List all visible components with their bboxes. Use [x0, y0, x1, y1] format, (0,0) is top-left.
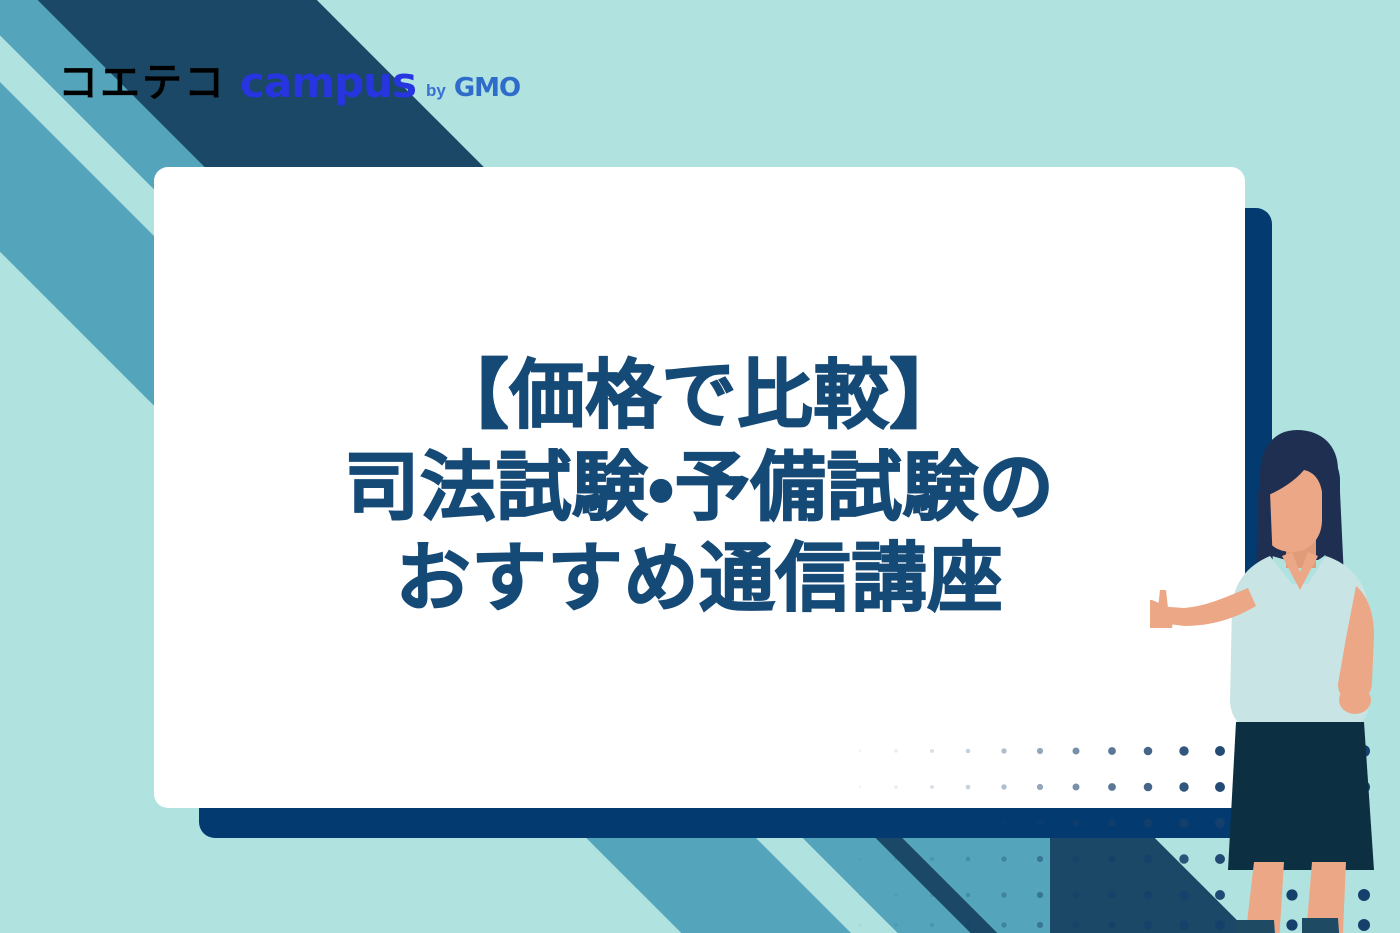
logo-koeteko-text: コエテコ — [58, 63, 226, 103]
logo-by-text: by — [426, 82, 446, 99]
headline-card: 【価格で比較】 司法試験・予備試験の おすすめ通信講座 — [154, 167, 1245, 808]
headline-line-2: 司法試験・予備試験の — [344, 442, 1055, 534]
blouse-collar — [1282, 552, 1318, 590]
left-shoe — [1226, 920, 1286, 933]
headline-line-3: おすすめ通信講座 — [344, 533, 1055, 625]
brand-logo[interactable]: コエテコ campus by GMO — [58, 62, 520, 104]
headline-line-1: 【価格で比較】 — [344, 350, 1055, 442]
left-leg — [1242, 862, 1284, 933]
page-title: 【価格で比較】 司法試験・予備試験の おすすめ通信講座 — [344, 350, 1055, 625]
thumbnail-canvas: 【価格で比較】 司法試験・予備試験の おすすめ通信講座 — [0, 0, 1400, 933]
hair-front — [1261, 443, 1340, 520]
neck — [1286, 528, 1316, 568]
right-hand — [1339, 686, 1371, 714]
logo-campus-text: campus — [240, 62, 416, 104]
right-leg — [1304, 862, 1346, 933]
hair-side-strand-right — [1324, 492, 1344, 578]
logo-gmo-text: GMO — [454, 75, 520, 101]
right-shoe — [1294, 918, 1350, 933]
right-arm — [1338, 586, 1374, 702]
